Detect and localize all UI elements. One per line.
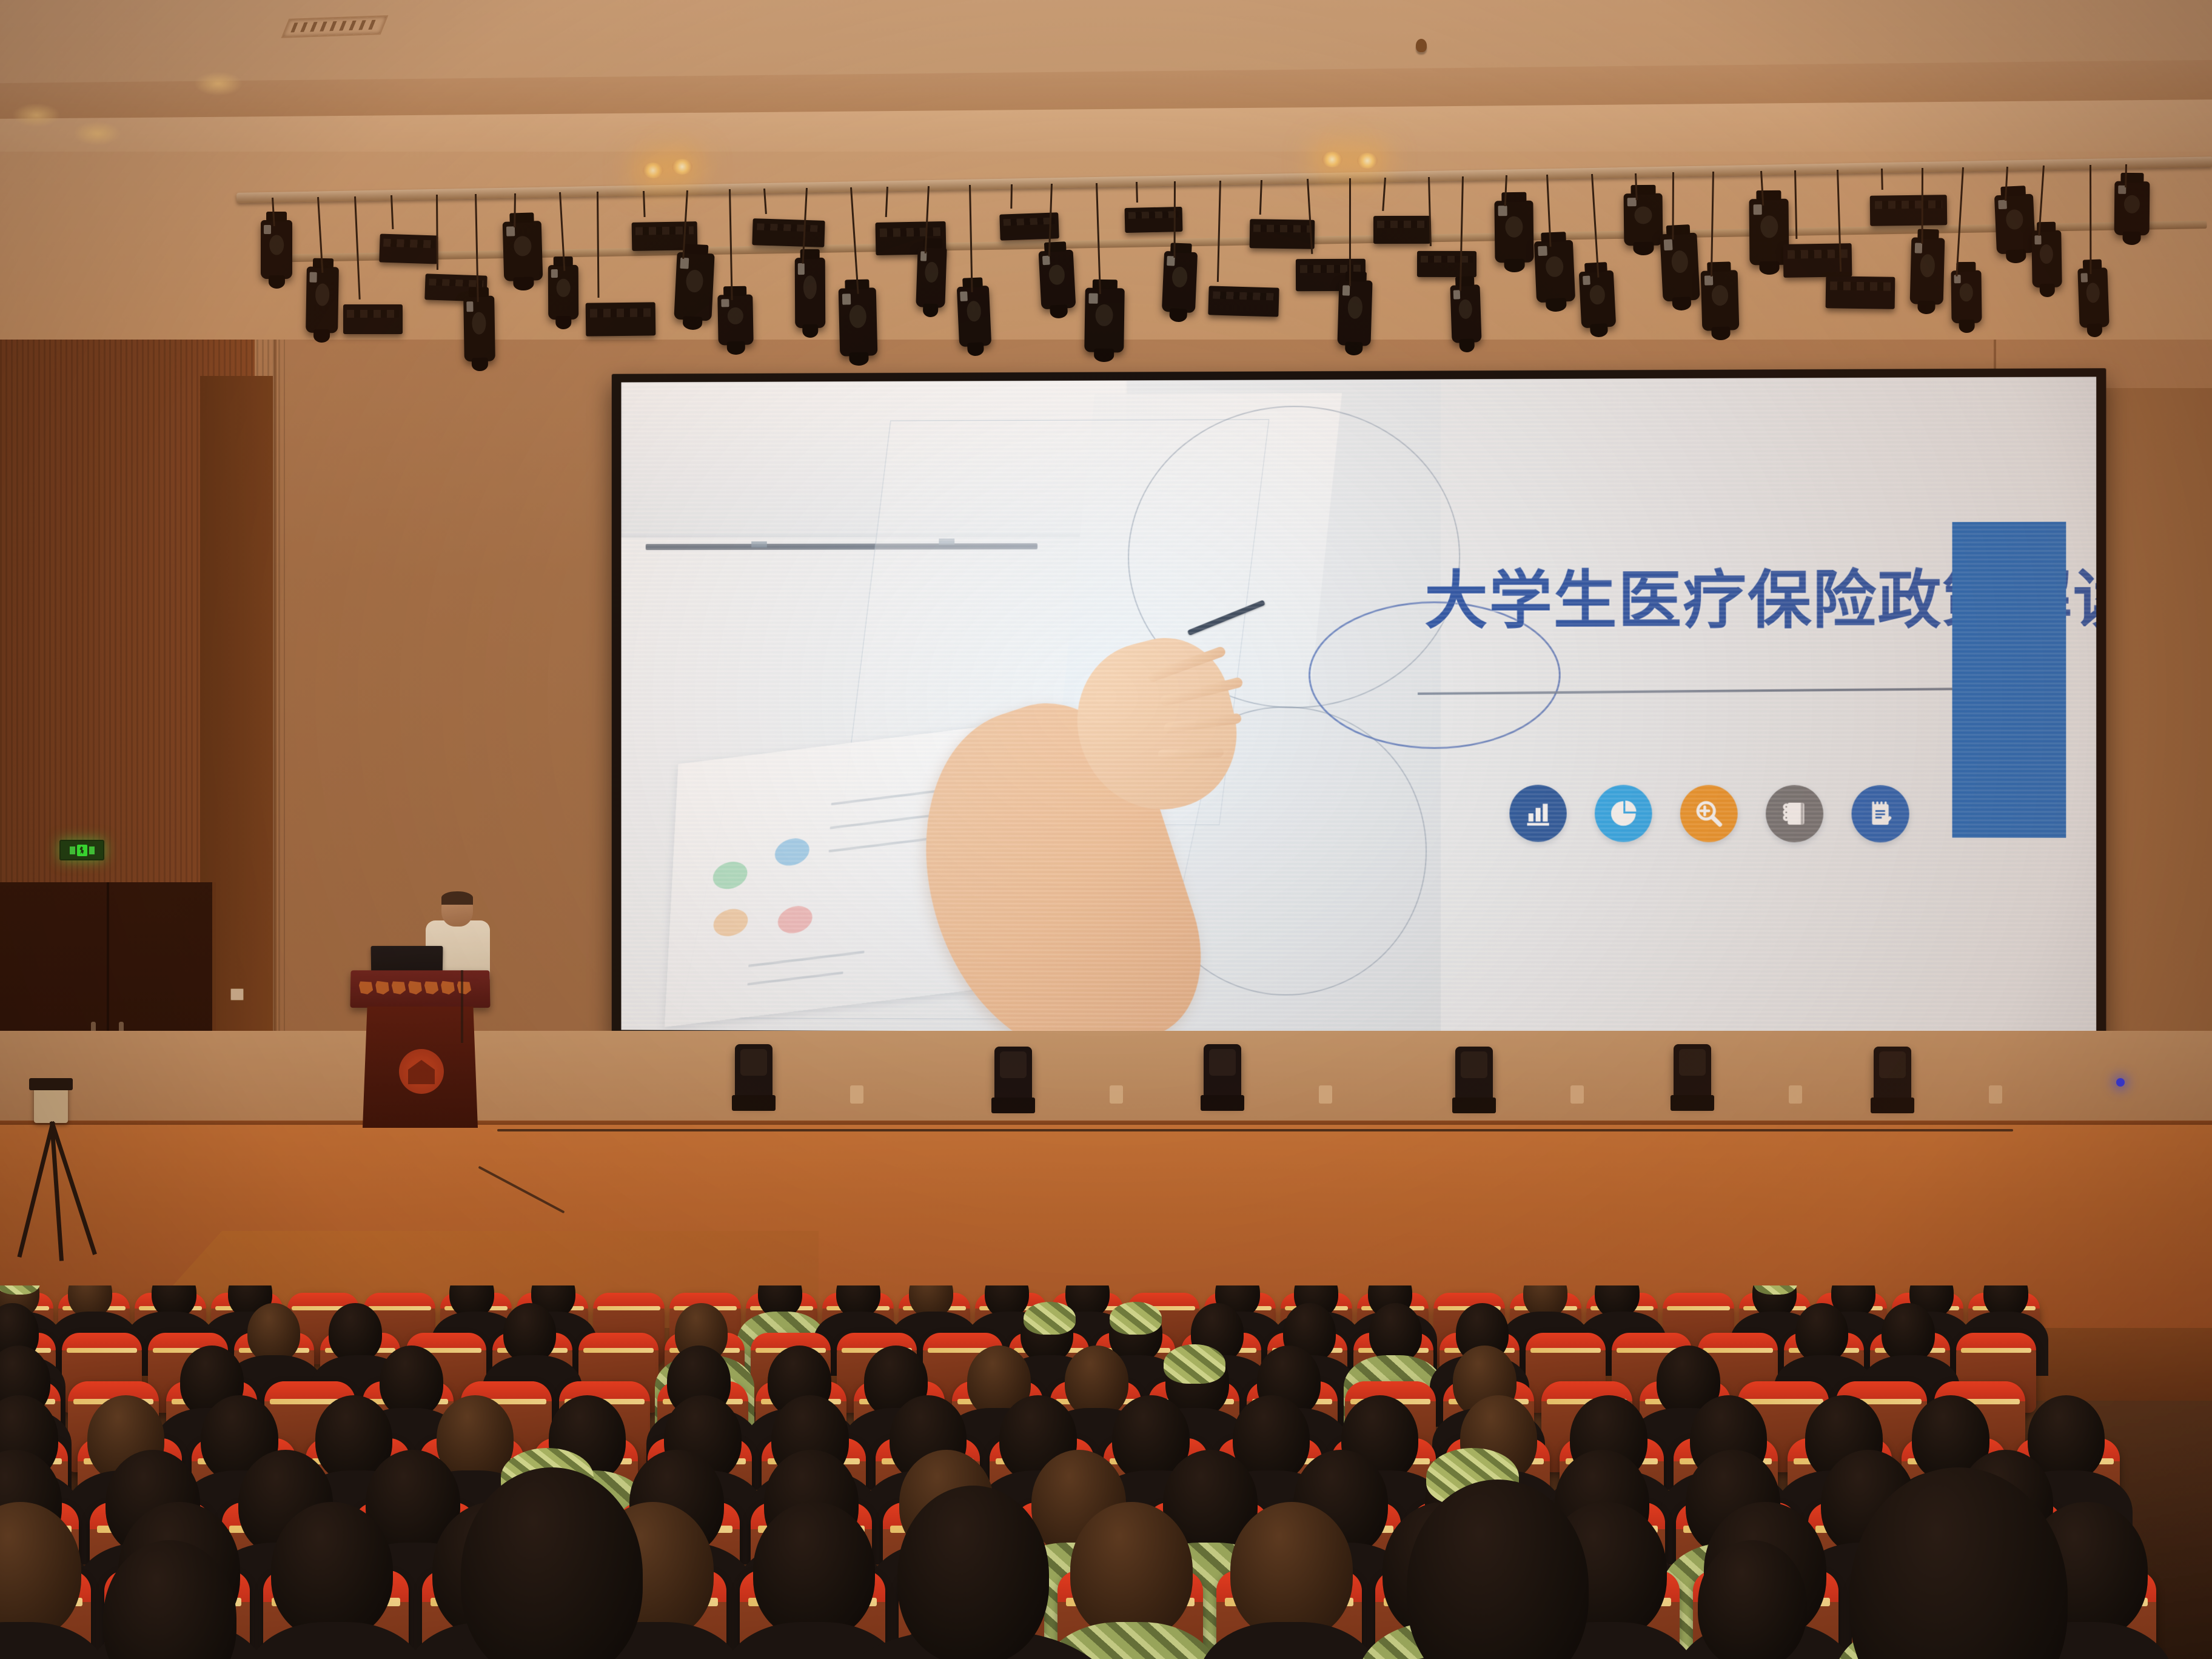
notebook-icon	[1766, 785, 1823, 842]
tripod-leg	[17, 1121, 55, 1258]
photo-finger	[1163, 712, 1242, 734]
fixture-lens-icon	[686, 269, 704, 293]
audience-head	[1065, 1346, 1128, 1417]
podium-char	[392, 981, 406, 995]
audience-head	[247, 1303, 300, 1362]
fixture-hanger	[1173, 181, 1175, 258]
audience-head	[753, 1502, 876, 1639]
fixture-badge	[1998, 199, 2007, 209]
stage-moving-light-icon	[735, 1044, 773, 1102]
podium-char	[441, 981, 455, 995]
fixture-badge	[2080, 273, 2087, 283]
clipboard-check-icon	[1852, 785, 1909, 842]
wall-glow	[12, 103, 61, 127]
fixture-badge	[1089, 293, 1098, 303]
stage-device-led-icon	[2116, 1078, 2125, 1087]
fixture-badge	[680, 258, 689, 269]
stage-spotlight-icon	[838, 287, 877, 357]
stage-spotlight-icon	[1038, 250, 1075, 310]
exit-sign-char	[70, 846, 75, 854]
fixture-badge	[1538, 246, 1547, 256]
fixture-badge	[960, 291, 967, 301]
photo-text-line	[748, 971, 843, 985]
fixture-lens-icon	[2040, 244, 2054, 264]
podium-char	[359, 981, 373, 995]
college-emblem-icon	[399, 1049, 444, 1094]
photo-finger	[1146, 645, 1226, 683]
fixture-lens-icon	[966, 301, 981, 322]
slide-photo-region	[622, 379, 1441, 1033]
fixture-badge	[551, 269, 558, 278]
fixture-lens-icon	[1920, 254, 1935, 277]
stage-spotlight-icon	[795, 258, 825, 328]
fixture-lens-icon	[1635, 207, 1652, 224]
fixture-badge	[1914, 243, 1922, 253]
audience-head	[1882, 1303, 1934, 1362]
fixture-lens-icon	[2005, 209, 2023, 229]
stage-spotlight-icon	[2077, 267, 2109, 327]
fixture-badge	[310, 272, 317, 283]
fixture-lens-icon	[925, 262, 939, 283]
fixture-lens-icon	[849, 305, 866, 329]
fixture-badge	[2034, 235, 2041, 244]
exit-sign	[59, 840, 104, 860]
fixture-lens-icon	[472, 312, 486, 335]
stage-spotlight-icon	[1578, 270, 1616, 329]
stage-panel-light-icon	[1250, 219, 1315, 249]
stage-floor-box	[1110, 1085, 1123, 1104]
fixture-hanger	[1881, 169, 1883, 190]
stage-spotlight-icon	[1495, 200, 1534, 263]
fixture-lens-icon	[1760, 216, 1778, 238]
fixture-lens-icon	[1546, 256, 1564, 278]
wall-glow	[73, 121, 121, 146]
fixture-hanger	[436, 195, 438, 270]
audience-seating	[0, 1285, 2212, 1659]
fixture-lens-icon	[514, 236, 532, 256]
ceiling-spotlight-icon	[643, 163, 663, 178]
fixture-lens-icon	[315, 283, 329, 306]
fixture-badge	[1753, 204, 1761, 215]
fixture-badge	[507, 226, 515, 236]
camouflage-cap	[1164, 1344, 1226, 1384]
tripod-camera-rig[interactable]	[17, 1085, 90, 1267]
photo-finger	[1158, 748, 1224, 760]
audience-head	[503, 1303, 556, 1362]
microphone-stand	[461, 970, 463, 1043]
stage-panel-light-icon	[586, 302, 656, 337]
presenter-hair	[441, 891, 473, 905]
sprinkler-head-icon	[1416, 39, 1427, 52]
audience-head	[380, 1346, 443, 1417]
light-switch-plate[interactable]	[230, 988, 244, 1000]
fixture-lens-icon	[1589, 285, 1605, 305]
stage-spotlight-icon	[1994, 193, 2035, 254]
stage-spotlight-icon	[2031, 230, 2062, 287]
fixture-lens-icon	[803, 275, 817, 299]
photo-shelf-cap	[751, 541, 767, 548]
stage-spotlight-icon	[1534, 240, 1575, 303]
stage-spotlight-icon	[916, 247, 947, 309]
camouflage-cap	[1110, 1302, 1161, 1335]
stage-spotlight-icon	[1910, 237, 1945, 304]
ceiling-spotlight-icon	[1322, 152, 1342, 167]
stage-moving-light-icon	[1674, 1044, 1711, 1102]
audience-head	[1795, 1303, 1848, 1362]
pie-chart-icon	[1595, 785, 1652, 842]
fixture-hanger	[1922, 168, 1923, 244]
bar-chart-icon	[1510, 785, 1567, 842]
audience-head	[329, 1303, 381, 1362]
stage-spotlight-icon	[463, 296, 495, 362]
fixture-lens-icon	[1711, 285, 1728, 306]
wall-glow	[194, 72, 243, 96]
podium-char	[424, 981, 439, 995]
fixture-lens-icon	[1096, 304, 1114, 326]
stage-cable	[497, 1129, 2013, 1131]
stage-moving-light-icon	[994, 1047, 1032, 1105]
stage-spotlight-icon	[1660, 233, 1700, 302]
stage-spotlight-icon	[1450, 284, 1482, 343]
fixture-lens-icon	[1960, 283, 1974, 301]
stage-spotlight-icon	[503, 221, 543, 281]
audience-head	[1070, 1502, 1193, 1639]
fixture-badge	[722, 299, 729, 307]
fixture-badge	[1664, 240, 1672, 250]
stage-floor-box	[1989, 1085, 2002, 1104]
fixture-badge	[264, 224, 271, 234]
stage-panel-light-icon	[752, 218, 825, 247]
auditorium-scene: 大学生医疗保险政策解读	[0, 0, 2212, 1659]
stage-moving-light-icon	[1874, 1047, 1911, 1105]
stage-panel-light-icon	[1869, 195, 1946, 226]
exit-sign-char	[89, 846, 95, 854]
fixture-lens-icon	[1171, 266, 1187, 287]
fixture-lens-icon	[1048, 265, 1065, 286]
ceiling-spotlight-icon	[672, 159, 692, 175]
stage-spotlight-icon	[1084, 287, 1124, 352]
fixture-badge	[1042, 256, 1050, 266]
stage-moving-light-icon	[1204, 1044, 1241, 1102]
stage-spotlight-icon	[548, 265, 579, 320]
stage-floor-box	[1789, 1085, 1802, 1104]
fixture-badge	[1583, 276, 1590, 286]
fixture-badge	[1498, 206, 1507, 216]
fixture-lens-icon	[728, 307, 744, 324]
fixture-badge	[467, 301, 474, 312]
stage-panel-light-icon	[1783, 243, 1852, 278]
stage-spotlight-icon	[956, 286, 991, 347]
fixture-badge	[1704, 275, 1713, 285]
audience-head	[1369, 1303, 1422, 1362]
fixture-hanger	[1672, 172, 1674, 240]
photo-chart-dot-green	[712, 860, 748, 891]
wall-seam	[274, 340, 276, 1128]
stage-spotlight-icon	[1701, 270, 1740, 330]
magnifier-plus-icon	[1680, 785, 1738, 842]
led-screen-surface: 大学生医疗保险政策解读	[622, 377, 2097, 1035]
podium-char	[375, 981, 390, 995]
running-person-icon	[77, 845, 87, 856]
podium-char	[408, 981, 423, 995]
stage-floor-box	[1570, 1085, 1584, 1104]
stage-panel-light-icon	[1417, 251, 1476, 277]
stage-spotlight-icon	[1161, 251, 1197, 313]
photo-text-line	[748, 951, 864, 967]
audience-head-foreground	[897, 1486, 1049, 1659]
podium-top	[350, 970, 490, 1008]
slide-accent-bar	[1952, 521, 2066, 837]
stage-spotlight-icon	[674, 252, 715, 321]
fixture-lens-icon	[1671, 250, 1688, 273]
slide-icon-row	[1510, 785, 1909, 842]
fixture-badge	[798, 264, 805, 275]
stage-panel-light-icon	[1208, 286, 1279, 317]
stage-spotlight-icon	[1337, 280, 1372, 346]
stage-panel-light-icon	[1373, 216, 1430, 244]
audience-head	[271, 1502, 394, 1639]
camouflage-cap	[1024, 1302, 1075, 1335]
ceiling-spotlight-icon	[1357, 153, 1378, 169]
stage-spotlight-icon	[2114, 181, 2150, 236]
fixture-badge	[1627, 198, 1636, 206]
fixture-lens-icon	[1506, 216, 1523, 237]
fixture-lens-icon	[1459, 299, 1473, 319]
stage-spotlight-icon	[1624, 193, 1663, 246]
stage-panel-light-icon	[343, 304, 403, 334]
fixture-hanger	[2090, 165, 2091, 274]
stage-spotlight-icon	[1951, 270, 1982, 323]
podium-char	[457, 981, 472, 995]
fixture-badge	[1342, 285, 1350, 296]
fixture-lens-icon	[2123, 195, 2139, 213]
photo-chart-dot-orange	[713, 907, 749, 938]
led-video-wall: 大学生医疗保险政策解读	[612, 368, 2106, 1044]
fixture-lens-icon	[557, 279, 571, 298]
photo-chart-dot-red	[777, 905, 813, 936]
fixture-hanger	[2125, 164, 2127, 187]
fixture-hanger	[1349, 178, 1350, 286]
stage-panel-light-icon	[379, 233, 438, 264]
audience-head-foreground	[1698, 1540, 1807, 1659]
fixture-lens-icon	[1347, 297, 1362, 319]
camera-icon[interactable]	[34, 1085, 68, 1123]
stage-floor-box	[850, 1085, 863, 1104]
stage-spotlight-icon	[261, 220, 292, 279]
ceiling-vent-icon	[281, 15, 389, 38]
audience-head	[1230, 1502, 1353, 1639]
title-underline	[1418, 687, 1989, 694]
stage-spotlight-icon	[306, 267, 339, 333]
fixture-badge	[842, 293, 851, 304]
stage-moving-light-icon	[1455, 1047, 1493, 1105]
stage-floor-box	[1319, 1085, 1332, 1104]
fixture-lens-icon	[2086, 283, 2100, 303]
stage-spotlight-icon	[718, 294, 754, 345]
stage-panel-light-icon	[1825, 276, 1895, 309]
fixture-lens-icon	[269, 235, 284, 255]
photo-chart-dot-blue	[774, 837, 809, 868]
